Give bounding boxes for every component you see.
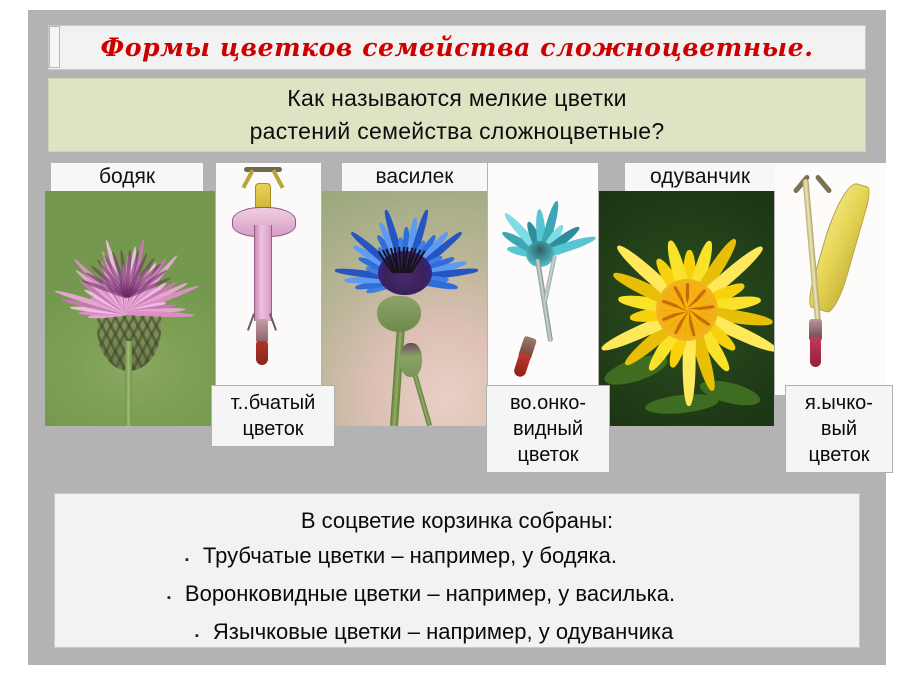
- tubular-floret-diagram[interactable]: [216, 163, 321, 395]
- funnel-receptacle-base: [513, 352, 532, 379]
- pappus-bristle: [247, 313, 255, 331]
- question-line-2: растений семейства сложноцветные?: [250, 115, 665, 148]
- pappus-bristle: [269, 313, 277, 331]
- list-item: ▪ Язычковые цветки – например, у одуванч…: [55, 615, 859, 653]
- flower-image-strip: бодяк василек одуванчик т..бчатый цветок…: [45, 163, 886, 485]
- list-item-text: Трубчатые цветки – например, у бодяка.: [203, 539, 617, 572]
- list-item-text: Язычковые цветки – например, у одуванчик…: [213, 615, 673, 648]
- caption-line-2: цветок: [242, 416, 303, 442]
- caption-line-2: вый: [821, 416, 857, 442]
- thistle-photo[interactable]: [45, 191, 215, 426]
- stigma-arm-right: [272, 169, 285, 189]
- caption-line-1: т..бчатый: [231, 390, 316, 416]
- ovary: [256, 319, 268, 343]
- bullet-marker-icon: ▪: [195, 620, 199, 653]
- caption-line-1: во.онко-: [510, 390, 586, 416]
- slide-canvas: Формы цветков семейства сложноцветные. К…: [28, 10, 886, 665]
- caption-ligulate-flower[interactable]: я.ычко- вый цветок: [785, 385, 893, 473]
- photo-label-text: василек: [376, 165, 454, 189]
- summary-heading: В соцветие корзинка собраны:: [55, 508, 859, 534]
- cornflower-photo[interactable]: [322, 191, 487, 426]
- caption-line-3: цветок: [808, 442, 869, 468]
- bullet-marker-icon: ▪: [167, 582, 171, 615]
- caption-line-1: я.ычко-: [805, 390, 873, 416]
- corolla-tube: [254, 225, 272, 321]
- list-item-text: Воронковидные цветки – например, у васил…: [185, 577, 675, 610]
- funnel-floret-diagram[interactable]: [488, 163, 598, 395]
- photo-label-text: бодяк: [99, 165, 155, 189]
- ligulate-receptacle-base: [810, 337, 821, 367]
- dandelion-photo[interactable]: [599, 191, 774, 426]
- caption-funnel-flower[interactable]: во.онко- видный цветок: [486, 385, 610, 473]
- caption-line-2: видный: [513, 416, 583, 442]
- dandelion-leaf: [644, 391, 719, 417]
- question-textbox[interactable]: Как называются мелкие цветки растений се…: [48, 78, 866, 152]
- question-line-1: Как называются мелкие цветки: [287, 82, 626, 115]
- summary-textbox[interactable]: В соцветие корзинка собраны: ▪ Трубчатые…: [54, 493, 860, 648]
- title-placeholder[interactable]: Формы цветков семейства сложноцветные.: [48, 25, 866, 70]
- page-title: Формы цветков семейства сложноцветные.: [101, 33, 814, 62]
- photo-label-text: одуванчик: [650, 165, 750, 189]
- photo-label-dandelion: одуванчик: [625, 163, 775, 191]
- receptacle-base: [256, 341, 268, 365]
- title-resize-handle[interactable]: [49, 26, 60, 68]
- stigma-arm-left: [242, 169, 255, 189]
- caption-tubular-flower[interactable]: т..бчатый цветок: [211, 385, 335, 447]
- thistle-stem: [125, 341, 132, 426]
- photo-label-cornflower: василек: [342, 163, 487, 191]
- cornflower-bud: [400, 343, 422, 377]
- photo-label-thistle: бодяк: [51, 163, 203, 191]
- list-item: ▪ Трубчатые цветки – например, у бодяка.: [55, 539, 859, 577]
- list-item: ▪ Воронковидные цветки – например, у вас…: [55, 577, 859, 615]
- ligulate-floret-diagram[interactable]: [775, 163, 886, 395]
- ligulate-stigma-arm-right: [815, 174, 833, 194]
- caption-line-3: цветок: [517, 442, 578, 468]
- cornflower-calyx: [377, 296, 421, 332]
- bullet-marker-icon: ▪: [185, 544, 189, 577]
